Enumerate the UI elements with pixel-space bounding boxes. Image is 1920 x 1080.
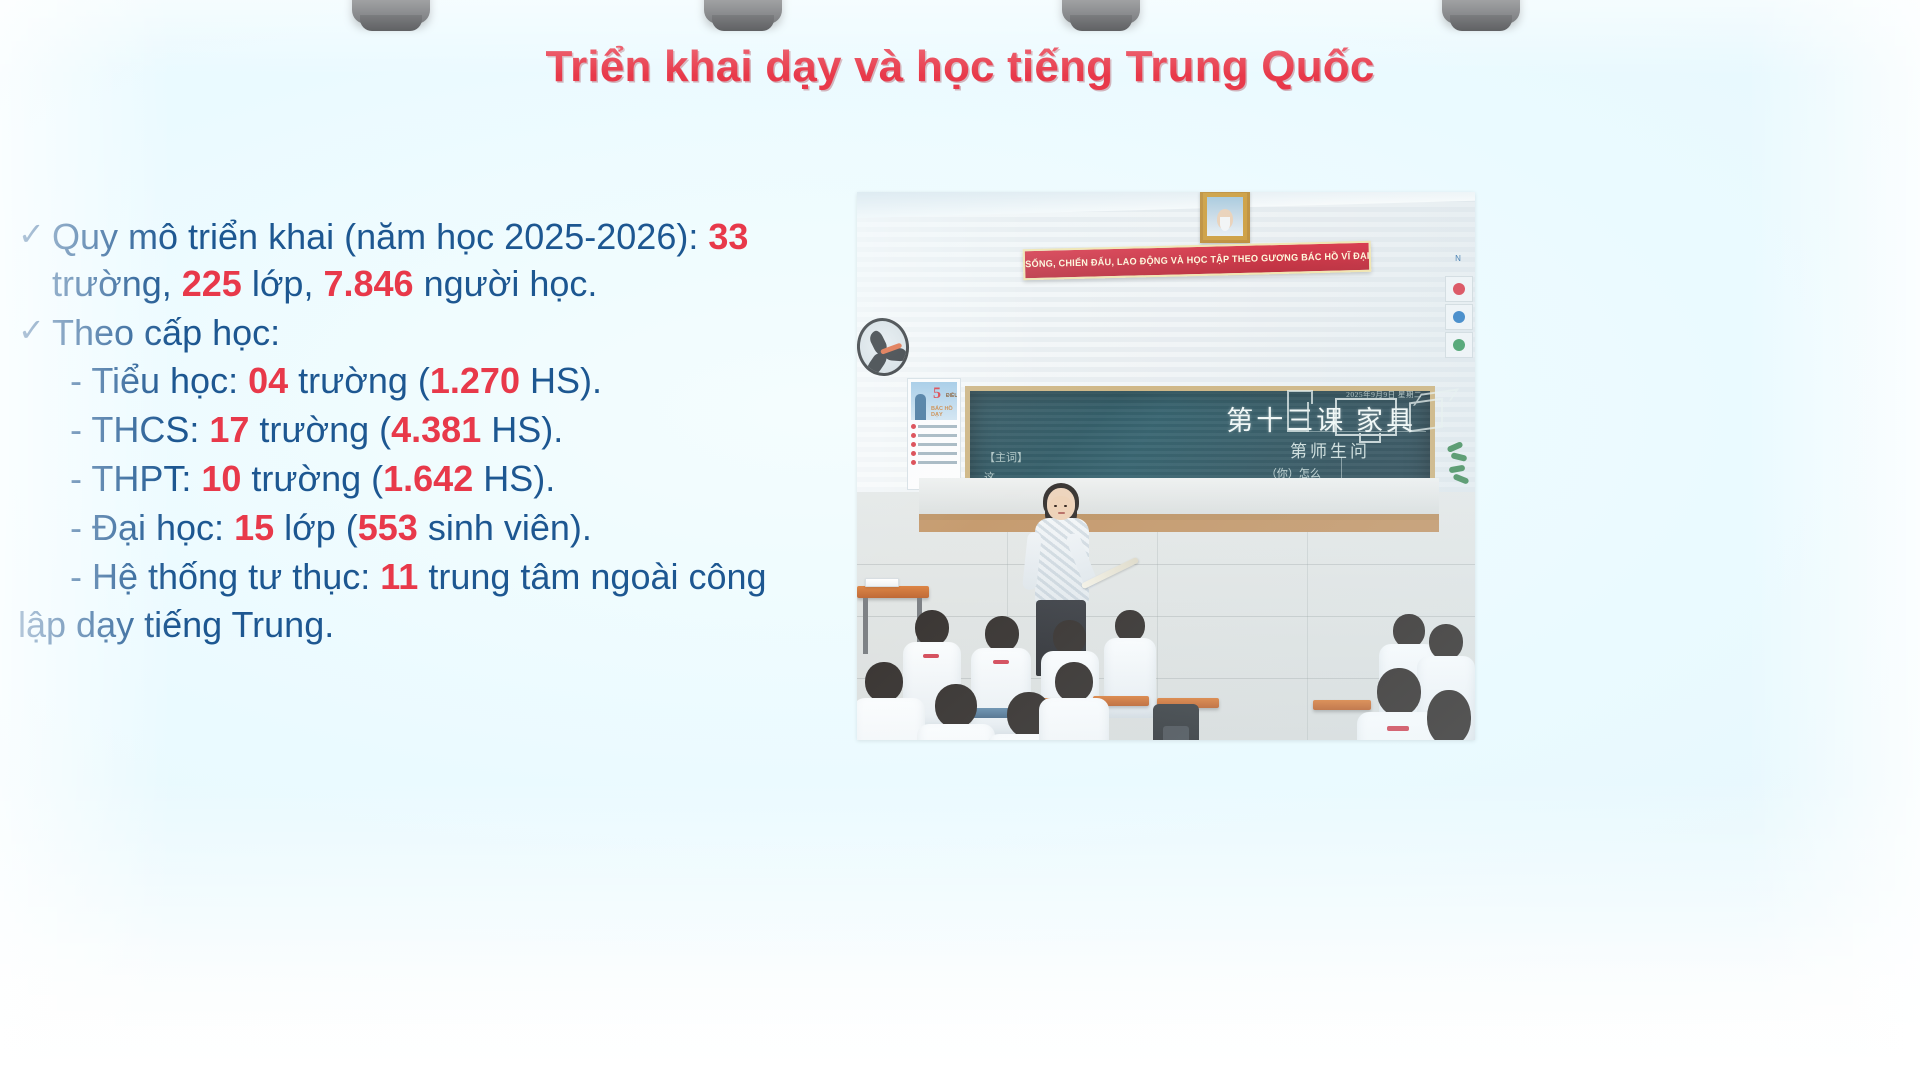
poster-subtitle: BÁC HỒ DẠY [931, 406, 957, 418]
text-run: HS). [481, 409, 563, 450]
text-run: - Hệ thống tư thục: [70, 556, 380, 597]
right-wall-label: N [1443, 254, 1473, 270]
checkmark-icon: ✓ [18, 310, 52, 352]
backpack [1153, 704, 1199, 740]
text-run: sinh viên). [418, 507, 592, 548]
plant-icon [1447, 440, 1473, 488]
ho-chi-minh-portrait-icon [1200, 192, 1250, 243]
content-block: - Đại học: 15 lớp (553 sinh viên). [18, 505, 864, 552]
ceiling-light-icon [1442, 0, 1520, 24]
content-line: Theo cấp học: [52, 310, 864, 357]
text-run: trường ( [288, 360, 430, 401]
content-block: - Tiểu học: 04 trường (1.270 HS). [18, 358, 864, 405]
text-run: Theo cấp học: [52, 312, 280, 353]
highlight-number: 04 [248, 360, 288, 401]
content-line: - THCS: 17 trường (4.381 HS). [18, 407, 864, 454]
highlight-number: 15 [234, 507, 274, 548]
content-block: ✓Theo cấp học: [18, 310, 864, 357]
content-block: - THPT: 10 trường (1.642 HS). [18, 456, 864, 503]
highlight-number: 553 [358, 507, 418, 548]
checkmark-icon: ✓ [18, 214, 52, 256]
wall-poster-icon [1445, 276, 1473, 302]
screen-bottom-falloff [0, 780, 1920, 1080]
bullet-row: ✓Quy mô triển khai (năm học 2025-2026): … [18, 214, 864, 308]
content-line: lập dạy tiếng Trung. [18, 602, 864, 649]
highlight-number: 33 [708, 216, 748, 257]
teacher-desk [857, 586, 929, 598]
content-line: - Hệ thống tư thục: 11 trung tâm ngoài c… [18, 554, 864, 601]
text-run: HS). [520, 360, 602, 401]
slide-title: Triển khai dạy và học tiếng Trung Quốc [0, 42, 1920, 92]
chalk-tv-drawing-icon [1335, 398, 1397, 436]
wall-poster-icon [1445, 304, 1473, 330]
slogan-banner-text: SỐNG, CHIẾN ĐẤU, LAO ĐỘNG VÀ HỌC TẬP THE… [1025, 251, 1370, 270]
content-line: - THPT: 10 trường (1.642 HS). [18, 456, 864, 503]
slide-body-text: ✓Quy mô triển khai (năm học 2025-2026): … [18, 214, 864, 651]
presentation-slide: Triển khai dạy và học tiếng Trung Quốc ✓… [0, 0, 1920, 1080]
content-line: - Đại học: 15 lớp (553 sinh viên). [18, 505, 864, 552]
highlight-number: 1.642 [383, 458, 473, 499]
poster-dieu-label: ĐIỀU [946, 393, 957, 399]
highlight-number: 7.846 [323, 263, 413, 304]
text-run: lập dạy tiếng Trung. [18, 604, 334, 645]
text-run: người học. [414, 263, 598, 304]
five-teachings-poster: 5 ĐIỀU BÁC HỒ DẠY [907, 378, 961, 490]
highlight-number: 10 [201, 458, 241, 499]
content-block: ✓Quy mô triển khai (năm học 2025-2026): … [18, 214, 864, 308]
highlight-number: 4.381 [391, 409, 481, 450]
poster-five-number: 5 [933, 385, 941, 403]
bullet-row: ✓Theo cấp học: [18, 310, 864, 357]
text-run: - THPT: [70, 458, 201, 499]
chalk-chair-drawing-icon [1287, 402, 1309, 432]
ceiling-light-icon [704, 0, 782, 24]
content-block: - Hệ thống tư thục: 11 trung tâm ngoài c… [18, 554, 864, 601]
text-run: trung tâm ngoài công [418, 556, 766, 597]
text-run: trường ( [249, 409, 391, 450]
ceiling-light-icon [1062, 0, 1140, 24]
ceiling-light-icon [352, 0, 430, 24]
highlight-number: 1.270 [430, 360, 520, 401]
desk-book [865, 578, 899, 587]
text-run: lớp, [242, 263, 324, 304]
student-figure [1037, 662, 1111, 740]
text-run: trường, [52, 263, 182, 304]
content-line: Quy mô triển khai (năm học 2025-2026): 3… [52, 214, 864, 261]
blackboard-lesson-subtitle: 第师生问 [1290, 437, 1370, 462]
wall-poster-icon [1445, 332, 1473, 358]
highlight-number: 225 [182, 263, 242, 304]
text-run: lớp ( [274, 507, 358, 548]
highlight-number: 11 [380, 556, 418, 597]
classroom-photo: SỐNG, CHIẾN ĐẤU, LAO ĐỘNG VÀ HỌC TẬP THE… [857, 192, 1475, 740]
student-figure [1419, 690, 1475, 740]
text-run: - THCS: [70, 409, 209, 450]
photo-podium [919, 478, 1439, 520]
text-run: trường ( [241, 458, 383, 499]
content-block: lập dạy tiếng Trung. [18, 602, 864, 649]
bullet-text: Theo cấp học: [52, 310, 864, 357]
photo-podium-front [919, 520, 1439, 532]
text-run: Quy mô triển khai (năm học 2025-2026): [52, 216, 708, 257]
content-block: - THCS: 17 trường (4.381 HS). [18, 407, 864, 454]
highlight-number: 17 [209, 409, 249, 450]
chalk-box-drawing-icon [1409, 398, 1443, 433]
text-run: - Đại học: [70, 507, 234, 548]
content-line: trường, 225 lớp, 7.846 người học. [52, 261, 864, 308]
text-run: HS). [473, 458, 555, 499]
bullet-text: Quy mô triển khai (năm học 2025-2026): 3… [52, 214, 864, 308]
content-line: - Tiểu học: 04 trường (1.270 HS). [18, 358, 864, 405]
text-run: - Tiểu học: [70, 360, 248, 401]
